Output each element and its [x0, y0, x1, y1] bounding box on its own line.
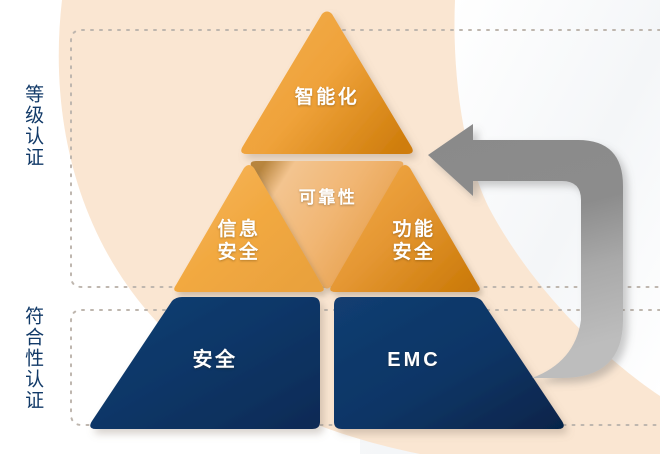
dotted-bracket-lower: [71, 310, 660, 425]
side-label-compliance-certification: 符合性认证: [22, 306, 42, 411]
side-label-grade-certification: 等级认证: [22, 84, 42, 168]
dotted-guides-layer: [0, 0, 660, 454]
dotted-bracket-upper: [71, 30, 660, 287]
diagram-canvas: 等级认证 符合性认证 智能化 可靠性 信息 安全 功能 安全 安全 EMC: [0, 0, 660, 454]
